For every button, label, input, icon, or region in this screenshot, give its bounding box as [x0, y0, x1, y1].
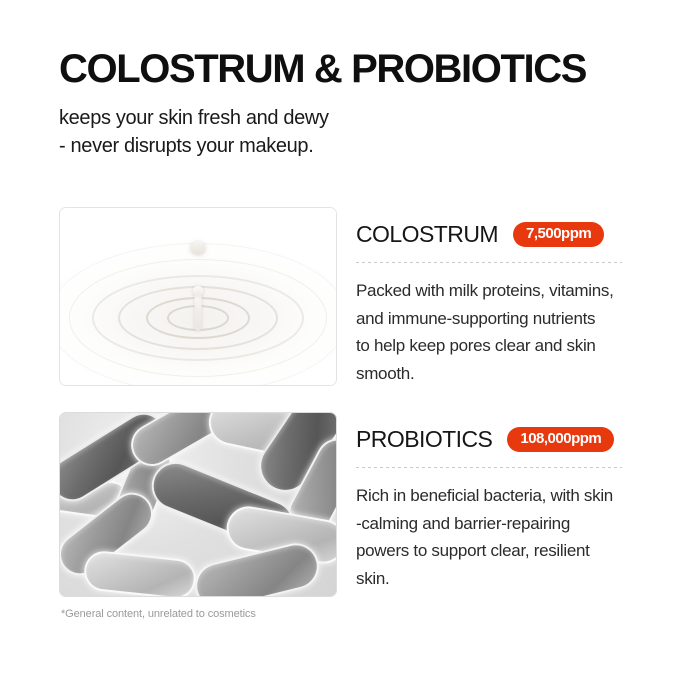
probiotics-image-card	[59, 412, 337, 597]
milk-drop-top	[193, 286, 204, 296]
description-line: skin.	[356, 565, 622, 593]
probiotics-title-line: PROBIOTICS 108,000ppm	[356, 426, 622, 453]
header: COLOSTRUM & PROBIOTICS keeps your skin f…	[59, 48, 639, 161]
subtitle-line-1: keeps your skin fresh and dewy	[59, 104, 639, 132]
colostrum-concentration-badge: 7,500ppm	[513, 222, 604, 248]
description-line: Packed with milk proteins, vitamins,	[356, 277, 622, 305]
ingredient-row-colostrum: COLOSTRUM 7,500ppm Packed with milk prot…	[59, 207, 621, 387]
colostrum-title-line: COLOSTRUM 7,500ppm	[356, 221, 622, 248]
bacteria-microscopy-icon	[60, 413, 336, 596]
bacteria-rod	[82, 549, 198, 596]
page-title: COLOSTRUM & PROBIOTICS	[59, 48, 639, 90]
milk-droplet-icon	[60, 208, 336, 385]
probiotics-concentration-badge: 108,000ppm	[507, 427, 614, 453]
probiotics-description: Rich in beneficial bacteria, with skin -…	[356, 482, 622, 592]
milk-drop-airborne	[191, 242, 206, 255]
probiotics-title: PROBIOTICS	[356, 426, 492, 453]
colostrum-description: Packed with milk proteins, vitamins, and…	[356, 277, 622, 387]
colostrum-image-card	[59, 207, 337, 386]
colostrum-divider	[356, 262, 622, 263]
description-line: Rich in beneficial bacteria, with skin	[356, 482, 622, 510]
colostrum-title: COLOSTRUM	[356, 221, 498, 248]
product-ingredient-infographic: COLOSTRUM & PROBIOTICS keeps your skin f…	[0, 0, 679, 679]
description-line: -calming and barrier-repairing	[356, 510, 622, 538]
colostrum-content: COLOSTRUM 7,500ppm Packed with milk prot…	[356, 207, 622, 387]
description-line: smooth.	[356, 360, 622, 388]
description-line: powers to support clear, resilient	[356, 537, 622, 565]
probiotics-divider	[356, 467, 622, 468]
subtitle-line-2: - never disrupts your makeup.	[59, 132, 639, 160]
probiotics-content: PROBIOTICS 108,000ppm Rich in beneficial…	[356, 412, 622, 592]
ingredient-row-probiotics: PROBIOTICS 108,000ppm Rich in beneficial…	[59, 412, 621, 597]
description-line: and immune-supporting nutrients	[356, 305, 622, 333]
description-line: to help keep pores clear and skin	[356, 332, 622, 360]
subtitle: keeps your skin fresh and dewy - never d…	[59, 104, 639, 161]
footnote-disclaimer: *General content, unrelated to cosmetics	[61, 608, 256, 620]
